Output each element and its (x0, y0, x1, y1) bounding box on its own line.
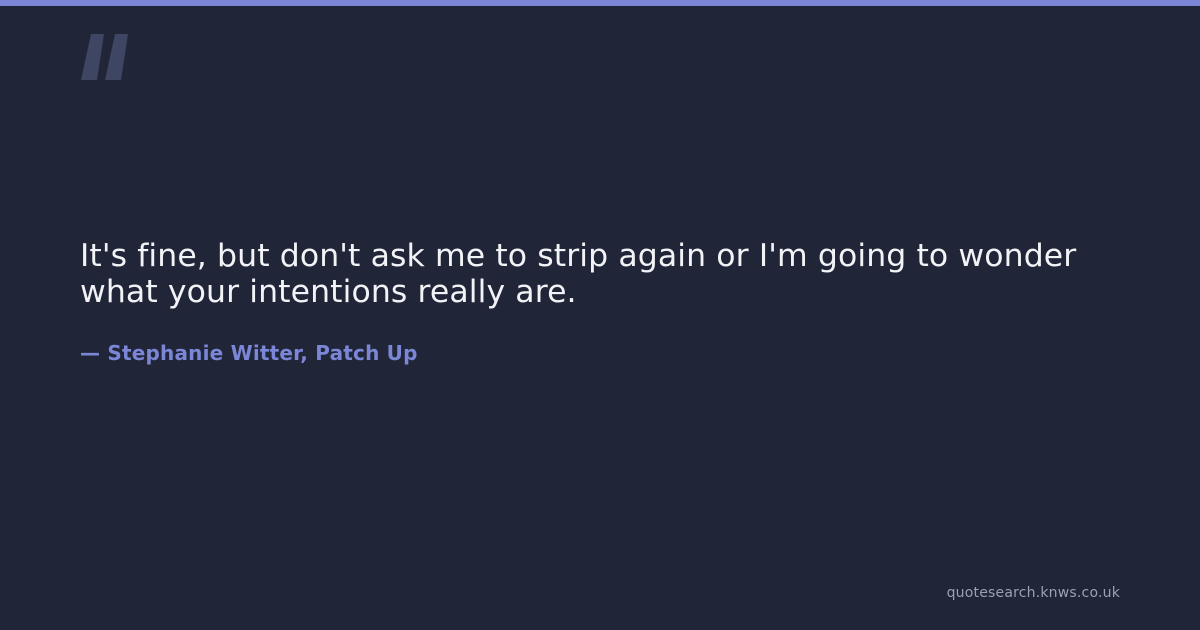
top-accent-bar (0, 0, 1200, 6)
left-double-quotation-mark-icon (80, 34, 132, 80)
quote-attribution: — Stephanie Witter, Patch Up (80, 310, 1110, 366)
site-watermark: quotesearch.knws.co.uk (947, 584, 1120, 602)
quote-card: It's fine, but don't ask me to strip aga… (0, 0, 1200, 630)
quote-body: It's fine, but don't ask me to strip aga… (80, 238, 1110, 366)
quote-text: It's fine, but don't ask me to strip aga… (80, 238, 1110, 310)
